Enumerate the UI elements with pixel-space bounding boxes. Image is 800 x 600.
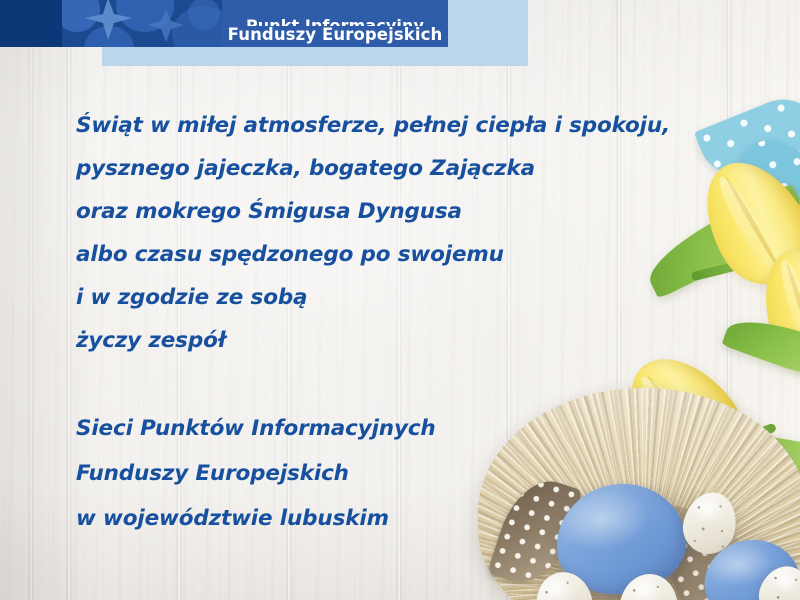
greeting-line: pysznego jajeczka, bogatego Zajączka (76, 147, 716, 190)
greeting-text-block: Świąt w miłej atmosferze, pełnej ciepła … (76, 104, 716, 362)
greeting-line: życzy zespół (76, 319, 716, 362)
easter-greeting-card: Punkt Informacyjny Funduszy Europejskich… (0, 0, 800, 600)
greeting-line: albo czasu spędzonego po swojemu (76, 233, 716, 276)
egg-speckle-pattern (617, 571, 681, 600)
banner-title-line2: Funduszy Europejskich (228, 27, 443, 44)
white-speckled-egg (617, 571, 681, 600)
greeting-line: i w zgodzie ze sobą (76, 276, 716, 319)
greeting-line: Świąt w miłej atmosferze, pełnej ciepła … (76, 104, 716, 147)
banner-light-blue-top (448, 0, 528, 47)
banner-light-blue-strip (102, 47, 528, 66)
banner-title: Punkt Informacyjny Funduszy Europejskich (222, 0, 448, 47)
four-point-star-icon (62, 0, 222, 47)
logo-star-motif-block (62, 0, 222, 47)
greeting-line: oraz mokrego Śmigusa Dyngusa (76, 190, 716, 233)
logo-navy-block (0, 0, 62, 47)
